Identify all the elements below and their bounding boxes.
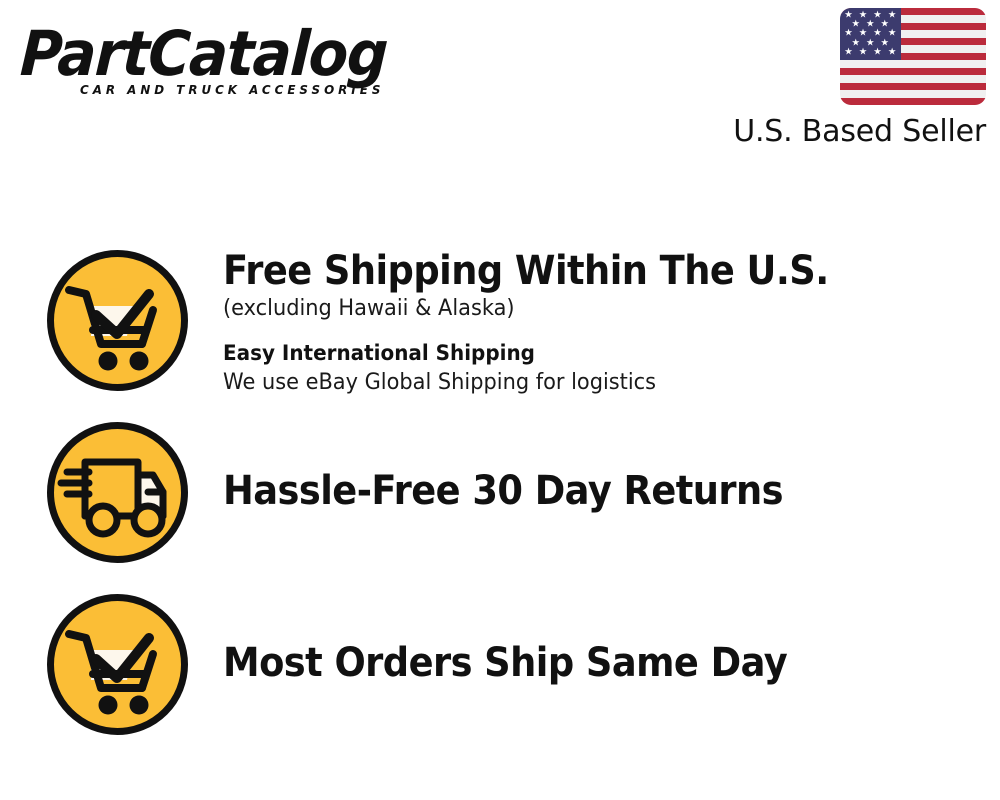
- brand-wordmark: PartCatalog: [19, 22, 459, 86]
- us-flag-icon: ★ ★ ★ ★ ★ ★ ★ ★ ★ ★ ★ ★ ★ ★ ★ ★ ★ ★: [840, 8, 986, 105]
- feature-headline: Free Shipping Within The U.S.: [223, 248, 922, 294]
- shopping-cart-check-icon: [45, 248, 190, 393]
- feature-headline: Most Orders Ship Same Day: [223, 640, 922, 686]
- us-based-seller-badge: ★ ★ ★ ★ ★ ★ ★ ★ ★ ★ ★ ★ ★ ★ ★ ★ ★ ★ U.S.…: [716, 8, 986, 149]
- feature-sub-note: We use eBay Global Shipping for logistic…: [223, 368, 945, 398]
- delivery-truck-icon: [45, 420, 190, 565]
- feature-text-free-shipping: Free Shipping Within The U.S. (excluding…: [223, 248, 983, 398]
- feature-text-returns: Hassle-Free 30 Day Returns: [223, 468, 983, 514]
- promo-banner: PartCatalog CAR AND TRUCK ACCESSORIES ★ …: [0, 0, 1000, 800]
- seller-label: U.S. Based Seller: [716, 115, 986, 149]
- feature-text-same-day: Most Orders Ship Same Day: [223, 640, 983, 686]
- feature-note: (excluding Hawaii & Alaska): [223, 294, 945, 324]
- brand-tagline: CAR AND TRUCK ACCESSORIES: [80, 82, 471, 97]
- feature-sub-headline: Easy International Shipping: [223, 338, 945, 368]
- brand-logo: PartCatalog CAR AND TRUCK ACCESSORIES: [22, 22, 492, 117]
- flag-canton: ★ ★ ★ ★ ★ ★ ★ ★ ★ ★ ★ ★ ★ ★ ★ ★ ★ ★: [840, 8, 901, 60]
- shopping-cart-check-icon: [45, 592, 190, 737]
- feature-headline: Hassle-Free 30 Day Returns: [223, 468, 922, 514]
